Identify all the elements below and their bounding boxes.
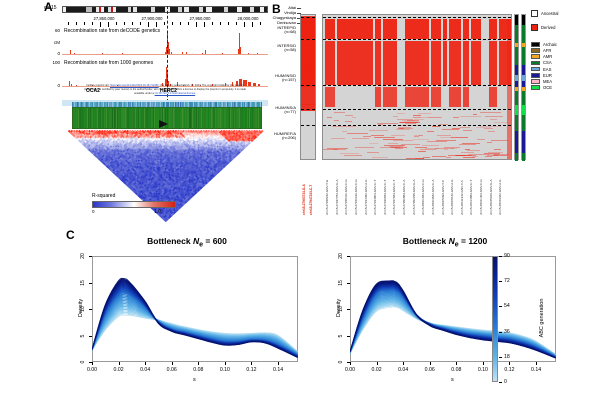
genotype-row-partial	[427, 131, 434, 132]
plot-title-ne600: Bottleneck Ne = 600	[62, 236, 312, 249]
genotype-row-partial	[301, 22, 316, 23]
genotype-row-partial	[487, 142, 492, 143]
x-tick-label: 0.10	[478, 367, 488, 373]
genotype-block	[463, 41, 469, 85]
snp-label: chr15-28021463-GNV-C-G	[479, 179, 483, 215]
genotype-block	[337, 41, 373, 85]
snp-label: chr15-27947683-GNV-C-T	[392, 180, 396, 215]
y-tick-label: 20	[80, 250, 86, 262]
y-tick-label: 5	[80, 330, 86, 342]
group-separator	[323, 85, 511, 86]
y-tick-label: 15	[338, 277, 344, 289]
colorbar-tick-mark	[499, 256, 502, 257]
x-tick-mark	[430, 362, 431, 365]
ideogram-band	[228, 7, 237, 12]
ruler-tick	[132, 22, 133, 25]
x-axis-title: s	[451, 377, 454, 383]
genotype-block	[383, 41, 397, 85]
genotype-row-partial	[384, 145, 405, 146]
genotype-row-partial	[444, 149, 448, 150]
genotype-row-partial	[301, 65, 316, 66]
haplotype-arrow	[159, 120, 168, 128]
colorbar-tick-label: 54	[504, 303, 510, 309]
ruler-tick	[188, 22, 189, 25]
genotype-block	[383, 87, 397, 107]
genotype-row-partial	[451, 137, 468, 138]
r-squared-legend-title: R-squared	[92, 193, 115, 199]
ancestry-segment	[522, 131, 525, 143]
genotype-row	[301, 159, 315, 160]
genotype-row-partial	[323, 149, 338, 150]
plot-title-ne1200: Bottleneck Ne = 1200	[320, 236, 570, 249]
x-tick-mark	[403, 362, 404, 365]
genotype-block	[337, 19, 373, 39]
recombination-spike	[122, 53, 123, 54]
recombination-spike	[205, 50, 206, 54]
genotype-row-partial	[413, 115, 421, 116]
ideogram-band	[155, 7, 165, 12]
x-tick-label: 0.06	[425, 367, 435, 373]
genotype-row-partial	[301, 68, 316, 69]
ruler-tick	[212, 22, 213, 25]
genotype-row-partial	[301, 40, 316, 41]
group-label-count: (n=77)	[284, 109, 296, 114]
genotype-row-partial	[442, 129, 459, 130]
legend-swatch-archaic	[531, 42, 540, 47]
legend-swatch-csa	[531, 61, 540, 66]
genotype-row-partial	[418, 151, 426, 152]
genotype-row-partial	[345, 115, 353, 116]
genotype-row-partial	[432, 126, 440, 127]
genotype-row-partial	[301, 28, 316, 29]
genotype-row-partial	[367, 152, 379, 153]
genotype-block	[471, 19, 481, 39]
genotype-row-partial	[432, 156, 446, 157]
genotype-row-partial	[363, 136, 371, 137]
legend-label-mea: MEA	[543, 79, 552, 84]
ruler-tick	[108, 22, 109, 27]
y-tick-label: 20	[338, 250, 344, 262]
track-title-decode: Recombination rate from deCODE genetics	[64, 28, 160, 34]
r-squared-legend: R-squared 0 1.0	[92, 193, 180, 217]
r-squared-colorbar	[92, 201, 176, 208]
genotype-block	[301, 87, 316, 111]
genotype-row-partial	[340, 153, 359, 154]
genotype-block	[449, 19, 461, 39]
colorbar-tick-label: 72	[504, 278, 510, 284]
genotype-row-partial	[490, 119, 497, 120]
panel-b-legend: AncestralDerivedArchaicAFRAMRCSAEASEURME…	[531, 10, 597, 90]
genotype-block	[375, 19, 381, 39]
legend-swatch-eas	[531, 67, 540, 72]
group-separator	[323, 17, 511, 18]
genotype-row-partial	[369, 143, 378, 144]
genotype-row-partial	[301, 83, 316, 84]
snp-label: chr15-28025029-GNV-G-A	[489, 179, 493, 215]
coordinate-label: 27,950,000	[190, 16, 211, 21]
genotype-block	[507, 19, 512, 159]
density-plot-ne1200: Bottleneck Ne = 1200 051015200.000.020.0…	[320, 236, 570, 396]
snp-label: chr15-27937783-GNV-G-A	[335, 179, 339, 215]
ruler-tick	[180, 22, 181, 25]
ancestry-segment	[515, 115, 518, 131]
genotype-row-partial	[355, 147, 374, 148]
recombination-spike	[202, 53, 203, 54]
recombination-spike	[222, 53, 223, 54]
snp-label: chr15-27940166-GNV-C-G	[354, 179, 358, 215]
genotype-row-partial	[494, 149, 501, 150]
ruler-tick	[172, 22, 173, 25]
coordinate-label: 27,900,000	[142, 16, 163, 21]
genotype-row-partial	[480, 112, 501, 113]
group-separator	[323, 109, 511, 110]
genotype-row-partial	[327, 117, 332, 118]
group-label-3: HUM/INS/A(n=77)	[252, 106, 296, 114]
genotype-row-partial	[301, 54, 316, 55]
snp-label: chr15-28011942-GNV-T-A	[460, 180, 464, 215]
y-tick-label: 0	[338, 356, 344, 368]
genotype-block	[463, 87, 469, 107]
legend-label-derived: Derived	[541, 25, 555, 30]
group-label-count: (n=58)	[284, 47, 296, 52]
recombination-spike	[248, 53, 249, 54]
genotype-block	[489, 19, 497, 39]
genotype-row-partial	[397, 113, 405, 114]
coordinate-label: 27,850,000	[94, 16, 115, 21]
group-label-2: HUM/INS/D(n=157)	[252, 74, 296, 82]
genotype-block	[431, 87, 441, 107]
track2-axis-top: 100	[44, 60, 60, 65]
genotype-row-partial	[420, 149, 436, 150]
x-tick-mark	[251, 362, 252, 365]
genotype-block	[325, 87, 335, 107]
genotype-block	[301, 111, 316, 160]
legend-swatch-ancestral	[531, 10, 538, 17]
genotype-row-partial	[301, 80, 316, 81]
y-tick-label: 15	[80, 277, 86, 289]
genotype-row-partial	[342, 131, 347, 132]
ancestry-segment	[522, 15, 525, 25]
genotype-row-partial	[371, 135, 384, 136]
legend-swatch-oce	[531, 85, 540, 90]
x-tick-mark	[198, 362, 199, 365]
ruler-tick	[244, 22, 245, 27]
x-tick-label: 0.10	[220, 367, 230, 373]
genotype-row-partial	[374, 137, 395, 138]
snp-label: chr15-27952298-GNV-G-A	[412, 179, 416, 215]
genotype-row-partial	[476, 127, 491, 128]
genotype-row-partial	[460, 127, 470, 128]
x-tick-mark	[119, 362, 120, 365]
legend-label-ancestral: Ancestral	[541, 11, 558, 16]
x-tick-label: 0.06	[167, 367, 177, 373]
ancestry-segment	[515, 131, 518, 143]
genotype-block	[443, 19, 447, 39]
ancestry-segment	[515, 15, 518, 25]
genotype-row-partial	[462, 143, 480, 144]
colorbar-tick-label: 18	[504, 354, 510, 360]
genotype-matrix-left	[300, 14, 316, 160]
ancestry-segment	[522, 143, 525, 153]
genotype-block	[471, 41, 481, 85]
x-tick-mark	[377, 362, 378, 365]
recombination-spike	[171, 52, 172, 54]
genotype-row-partial	[427, 141, 447, 142]
genotype-block	[375, 87, 381, 107]
x-tick-mark	[509, 362, 510, 365]
snp-label: chr15-28008132-GNV-A-G	[450, 179, 454, 215]
genotype-row-partial	[428, 117, 442, 118]
x-tick-label: 0.02	[114, 367, 124, 373]
ideogram-band	[66, 7, 86, 12]
ideogram-band	[189, 7, 199, 12]
group-separator	[323, 125, 511, 126]
genotype-row-partial	[352, 117, 356, 118]
group-label-0: INTREP/D(n=68)	[252, 26, 296, 34]
genotype-row-partial	[467, 150, 480, 151]
x-tick-mark	[350, 362, 351, 365]
snp-label-highlighted: chr15-27903733-G-A	[302, 184, 306, 215]
y-tick-mark	[347, 283, 350, 284]
ideogram-band	[212, 7, 224, 12]
legend-label-archaic: Archaic	[543, 42, 557, 47]
chromosome-ideogram	[62, 6, 268, 13]
doi-link[interactable]: https://doi.org/10.1101/2024.03.18.71248…	[110, 84, 159, 87]
ruler-tick	[204, 22, 205, 27]
abc-generation-colorbar	[492, 256, 498, 382]
genotype-block	[405, 41, 429, 85]
ruler-tick	[164, 22, 165, 25]
figure-root: A chr15 27,850,00027,900,00027,950,00028…	[0, 0, 600, 400]
colorbar-tick-label: 90	[504, 253, 510, 259]
ruler-tick	[228, 22, 229, 25]
track1-axis-top: 60	[44, 28, 60, 33]
genotype-block	[463, 19, 469, 39]
snp-label: chr15-27946833-GNV-C-T	[383, 180, 387, 215]
ancestry-segment	[522, 47, 525, 65]
recombination-spike	[182, 52, 183, 54]
x-tick-mark	[172, 362, 173, 365]
chromosome-label: chr15	[44, 5, 57, 11]
genotype-row-partial	[301, 72, 316, 73]
x-tick-label: 0.08	[451, 367, 461, 373]
y-axis-title: Density	[336, 293, 342, 323]
ruler-tick	[84, 22, 85, 25]
track-title-1000g: Recombination rate from 1000 genomes	[64, 60, 153, 66]
genotype-row-partial	[413, 139, 429, 140]
group-separator	[301, 85, 315, 86]
ruler-tick	[236, 22, 237, 25]
genotype-row-partial	[301, 66, 316, 67]
snp-label: chr15-28001833-GNV-C-G	[421, 179, 425, 215]
x-tick-mark	[278, 362, 279, 365]
y-tick-mark	[89, 309, 92, 310]
genotype-row-partial	[397, 128, 413, 129]
x-tick-mark	[145, 362, 146, 365]
genotype-row-partial	[301, 74, 316, 75]
ideogram-band	[170, 7, 178, 12]
genotype-row-partial	[453, 117, 459, 118]
y-tick-mark	[89, 283, 92, 284]
recombination-spike	[70, 50, 71, 54]
genotype-row-partial	[301, 104, 316, 105]
y-tick-label: 0	[80, 356, 86, 368]
density-curves-canvas	[92, 256, 298, 362]
x-tick-label: 0.00	[87, 367, 97, 373]
genotype-row-partial	[301, 58, 316, 59]
legend-label-amr: AMR	[543, 54, 552, 59]
x-tick-label: 0.08	[193, 367, 203, 373]
genotype-row-partial	[301, 32, 316, 33]
legend-label-afr: AFR	[543, 48, 551, 53]
genotype-row-partial	[493, 155, 507, 156]
genotype-row-partial	[488, 131, 495, 132]
ancestry-segment	[522, 105, 525, 115]
genotype-row-partial	[301, 35, 316, 36]
genotype-row-partial	[473, 114, 477, 115]
colorbar-tick-mark	[499, 306, 502, 307]
ancestry-segment	[515, 153, 518, 161]
y-tick-mark	[347, 309, 350, 310]
genotype-row-partial	[352, 138, 369, 139]
x-tick-label: 0.12	[246, 367, 256, 373]
snp-label: chr15-27944452-GNV-A-G	[364, 179, 368, 215]
colorbar-tick-mark	[499, 382, 502, 383]
genotype-block	[489, 41, 497, 85]
genotype-row-partial	[484, 128, 493, 129]
colorbar-tick-mark	[499, 281, 502, 282]
recombination-spike	[257, 53, 258, 54]
ancestry-segment	[522, 115, 525, 131]
track2-axis-bottom: 0	[44, 83, 60, 88]
legend-label-eur: EUR	[543, 73, 552, 78]
genotype-row-partial	[463, 130, 472, 131]
snp-label: chr15-27938410-GNV-C-G	[344, 179, 348, 215]
colorbar-tick-label: 0	[504, 379, 507, 385]
x-tick-label: 0.14	[531, 367, 541, 373]
ruler-tick	[68, 22, 69, 25]
group-separator	[301, 39, 315, 40]
legend-swatch-afr	[531, 48, 540, 53]
y-axis-title: Density	[78, 293, 84, 323]
colorbar-tick-label: 36	[504, 329, 510, 335]
ruler-tick	[196, 22, 197, 27]
ruler-tick	[124, 22, 125, 25]
ancestry-segment	[515, 143, 518, 153]
genotype-matrix-main	[322, 14, 512, 160]
legend-swatch-eur	[531, 73, 540, 78]
genotype-row-partial	[485, 116, 503, 117]
recombination-spike	[169, 49, 170, 54]
r-squared-min: 0	[92, 209, 95, 214]
snp-label: chr15-28029322-GNV-A-G	[498, 179, 502, 215]
genotype-row-partial	[491, 140, 508, 141]
legend-swatch-amr	[531, 54, 540, 59]
track1-axis-bottom: 0	[44, 51, 60, 56]
genotype-row-partial	[301, 61, 316, 62]
legend-swatch-derived	[531, 24, 538, 31]
genotype-block	[449, 41, 461, 85]
genotype-block	[449, 87, 461, 107]
snp-label: chr15-28003842-GNV-C-A	[431, 180, 435, 215]
group-label-1: INTERS/D(n=58)	[252, 44, 296, 52]
ruler-tick	[100, 22, 101, 27]
legend-label-csa: CSA	[543, 60, 552, 65]
genotype-row-partial	[301, 36, 316, 37]
x-tick-mark	[92, 362, 93, 365]
genotype-row-partial	[345, 121, 352, 122]
ruler-tick	[156, 22, 157, 27]
group-label-count: (n=68)	[284, 29, 296, 34]
x-tick-label: 0.14	[273, 367, 283, 373]
ancestry-segment	[515, 65, 518, 75]
genotype-row-partial	[488, 152, 503, 153]
genotype-row-partial	[446, 157, 451, 158]
genotype-block	[325, 41, 335, 85]
x-tick-label: 0.00	[345, 367, 355, 373]
x-tick-label: 0.04	[398, 367, 408, 373]
y-tick-label: 5	[338, 330, 344, 342]
ruler-ticks	[62, 22, 268, 27]
genotype-row-partial	[456, 155, 472, 156]
ruler-tick	[116, 22, 117, 25]
genotype-row-partial	[413, 117, 421, 118]
ruler-tick	[220, 22, 221, 25]
group-separator	[301, 125, 315, 126]
genotype-row-partial	[301, 59, 316, 60]
y-tick-mark	[347, 336, 350, 337]
x-tick-label: 0.02	[372, 367, 382, 373]
ideogram-band	[116, 7, 128, 12]
genotype-row-partial	[415, 158, 424, 159]
genotype-row-partial	[414, 136, 419, 137]
genotype-block	[375, 41, 381, 85]
ruler-tick	[140, 22, 141, 25]
group-separator	[301, 109, 315, 110]
colorbar-tick-mark	[499, 357, 502, 358]
ancestry-segment	[515, 25, 518, 37]
ancestry-segment	[515, 105, 518, 115]
snp-label: chr15-27938232-GNV-T-G	[325, 180, 329, 215]
ancestry-segment	[522, 65, 525, 75]
genotype-row-partial	[460, 116, 481, 117]
genotype-row-partial	[334, 120, 339, 121]
genotype-row	[323, 159, 511, 160]
genotype-row-partial	[405, 123, 416, 124]
genotype-block	[405, 19, 429, 39]
group-label-count: (n=206)	[282, 135, 296, 140]
genotype-row-partial	[377, 123, 398, 124]
r-squared-max: 1.0	[154, 209, 161, 215]
snp-label-highlighted: chr15-27947233-C-T	[309, 185, 313, 215]
genotype-row-partial	[372, 157, 388, 158]
genotype-block	[431, 41, 441, 85]
genotype-row-partial	[422, 145, 439, 146]
haplotype-green-strip	[72, 107, 262, 129]
x-tick-mark	[536, 362, 537, 365]
genotype-row-partial	[332, 126, 353, 127]
genotype-row-partial	[452, 128, 460, 129]
genotype-row-partial	[437, 135, 451, 136]
ruler-tick	[148, 22, 149, 27]
y-tick-mark	[89, 336, 92, 337]
genotype-row-partial	[494, 122, 508, 123]
legend-swatch-mea	[531, 79, 540, 84]
track1-unit: cM	[40, 40, 60, 45]
genotype-block	[489, 87, 497, 107]
genotype-block	[431, 19, 441, 39]
group-separator	[301, 17, 315, 18]
